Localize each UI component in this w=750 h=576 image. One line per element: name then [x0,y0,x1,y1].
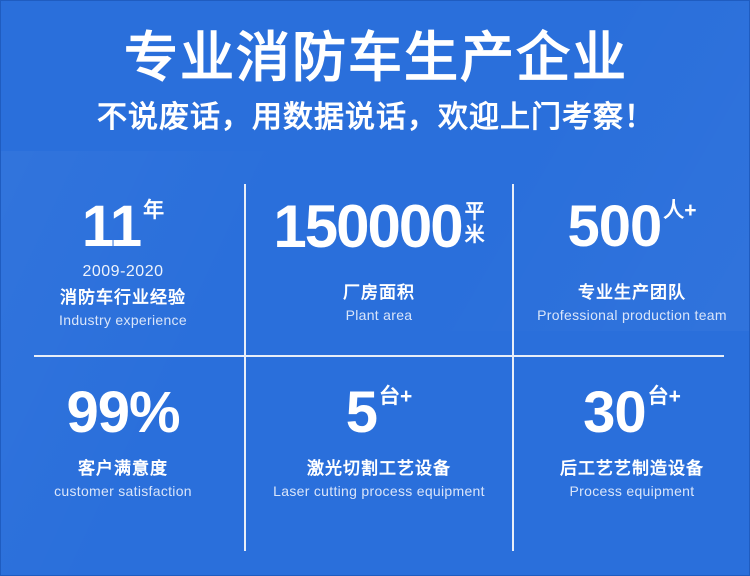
stat-unit-bottom: 米 [465,224,485,247]
stats-grid: 11 年 2009-2020 消防车行业经验 Industry experien… [1,184,750,553]
stat-cell-customer-satisfaction: 99% 客户满意度 customer satisfaction [1,356,245,553]
stat-unit: 台+ [379,386,412,407]
stat-label-cn: 厂房面积 [343,282,415,303]
stat-number: 11 [82,198,141,256]
stat-unit-top: 平 [465,201,485,224]
stat-value: 99% [66,384,179,442]
stat-cell-process-equipment: 30 台+ 后工艺艺制造设备 Process equipment [513,356,750,553]
stat-cell-laser-cutting-equipment: 5 台+ 激光切割工艺设备 Laser cutting process equi… [245,356,513,553]
promo-banner: 专业消防车生产企业 不说废话，用数据说话，欢迎上门考察！ 11 年 2009-2… [0,0,750,576]
stat-cell-production-team: 500 人+ 专业生产团队 Professional production te… [513,184,750,356]
stat-label-cn: 专业生产团队 [578,282,686,303]
stat-unit: 平 米 [465,201,485,247]
stat-number: 500 [567,198,661,256]
stat-label-en: Process equipment [570,482,695,500]
stat-label-cn: 客户满意度 [78,458,168,479]
stat-unit: 人+ [663,200,696,221]
stat-year-range: 2009-2020 [82,263,163,281]
stat-value: 11 年 [82,198,164,256]
stat-unit: 年 [143,200,164,221]
stat-cell-industry-experience: 11 年 2009-2020 消防车行业经验 Industry experien… [1,184,245,356]
stat-value: 500 人+ [567,198,696,256]
stat-label-en: Industry experience [59,311,187,329]
stat-label-cn: 消防车行业经验 [60,287,186,308]
page-subtitle: 不说废话，用数据说话，欢迎上门考察！ [1,89,750,137]
stat-label-cn: 激光切割工艺设备 [307,458,451,479]
stat-unit: 台+ [648,386,681,407]
banner-header: 专业消防车生产企业 不说废话，用数据说话，欢迎上门考察！ [1,1,750,137]
stat-number: 5 [346,384,377,442]
stat-label-en: Professional production team [537,306,727,324]
stat-value: 30 台+ [583,384,681,442]
stat-label-en: Laser cutting process equipment [273,482,485,500]
stat-number: 150000 [273,198,461,256]
stat-label-en: Plant area [346,306,413,324]
stat-label-cn: 后工艺艺制造设备 [560,458,704,479]
stat-value: 150000 平 米 [273,198,484,256]
stat-cell-plant-area: 150000 平 米 厂房面积 Plant area [245,184,513,356]
stat-number: 30 [583,384,646,442]
stat-number: 99% [66,384,179,442]
stat-label-en: customer satisfaction [54,482,192,500]
stat-value: 5 台+ [346,384,413,442]
page-title: 专业消防车生产企业 [1,1,750,89]
